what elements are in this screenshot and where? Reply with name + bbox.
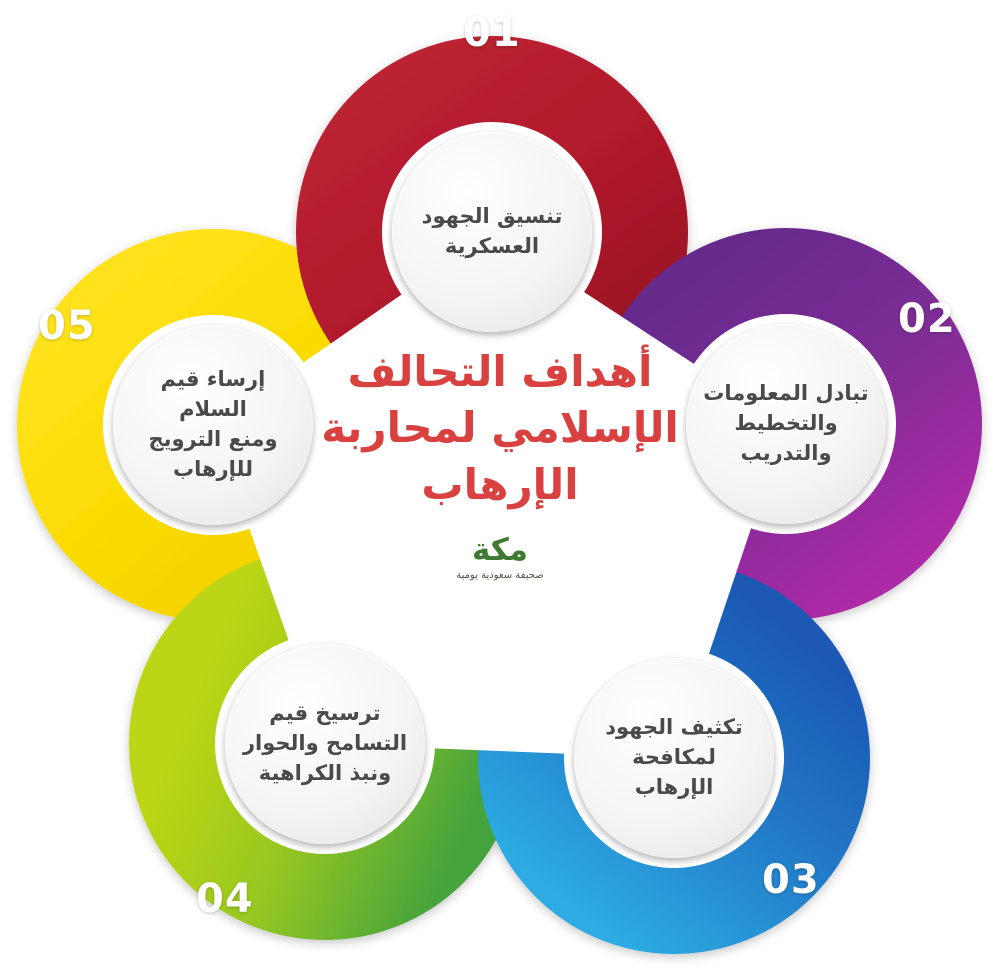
petal-bubble-04[interactable]: ترسيخ قيم التسامح والحوار ونبذ الكراهية [225, 644, 425, 844]
petal-label-03: تكثيف الجهود لمكافحة الإرهاب [591, 713, 757, 802]
petal-bubble-05[interactable]: إرساء قيم السلام ومنع الترويج للإرهاب [113, 325, 313, 525]
petal-label-04: ترسيخ قيم التسامح والحوار ونبذ الكراهية [229, 699, 421, 788]
petal-number-03: 03 [762, 857, 820, 903]
petal-bubble-03[interactable]: تكثيف الجهود لمكافحة الإرهاب [574, 658, 774, 858]
petal-bubble-02[interactable]: تبادل المعلومات والتخطيط والتدريب [686, 324, 886, 524]
petal-number-05: 05 [38, 303, 96, 349]
petal-label-05: إرساء قيم السلام ومنع الترويج للإرهاب [113, 365, 313, 484]
petal-bubble-01[interactable]: تنسيق الجهود العسكرية [392, 132, 592, 332]
petal-number-02: 02 [898, 296, 956, 342]
petal-number-01: 01 [463, 10, 521, 56]
petal-label-01: تنسيق الجهود العسكرية [408, 202, 577, 262]
petal-number-04: 04 [196, 876, 254, 922]
petal-label-02: تبادل المعلومات والتخطيط والتدريب [689, 379, 882, 468]
infographic-canvas: تنسيق الجهود العسكرية تبادل المعلومات وا… [0, 0, 1000, 970]
